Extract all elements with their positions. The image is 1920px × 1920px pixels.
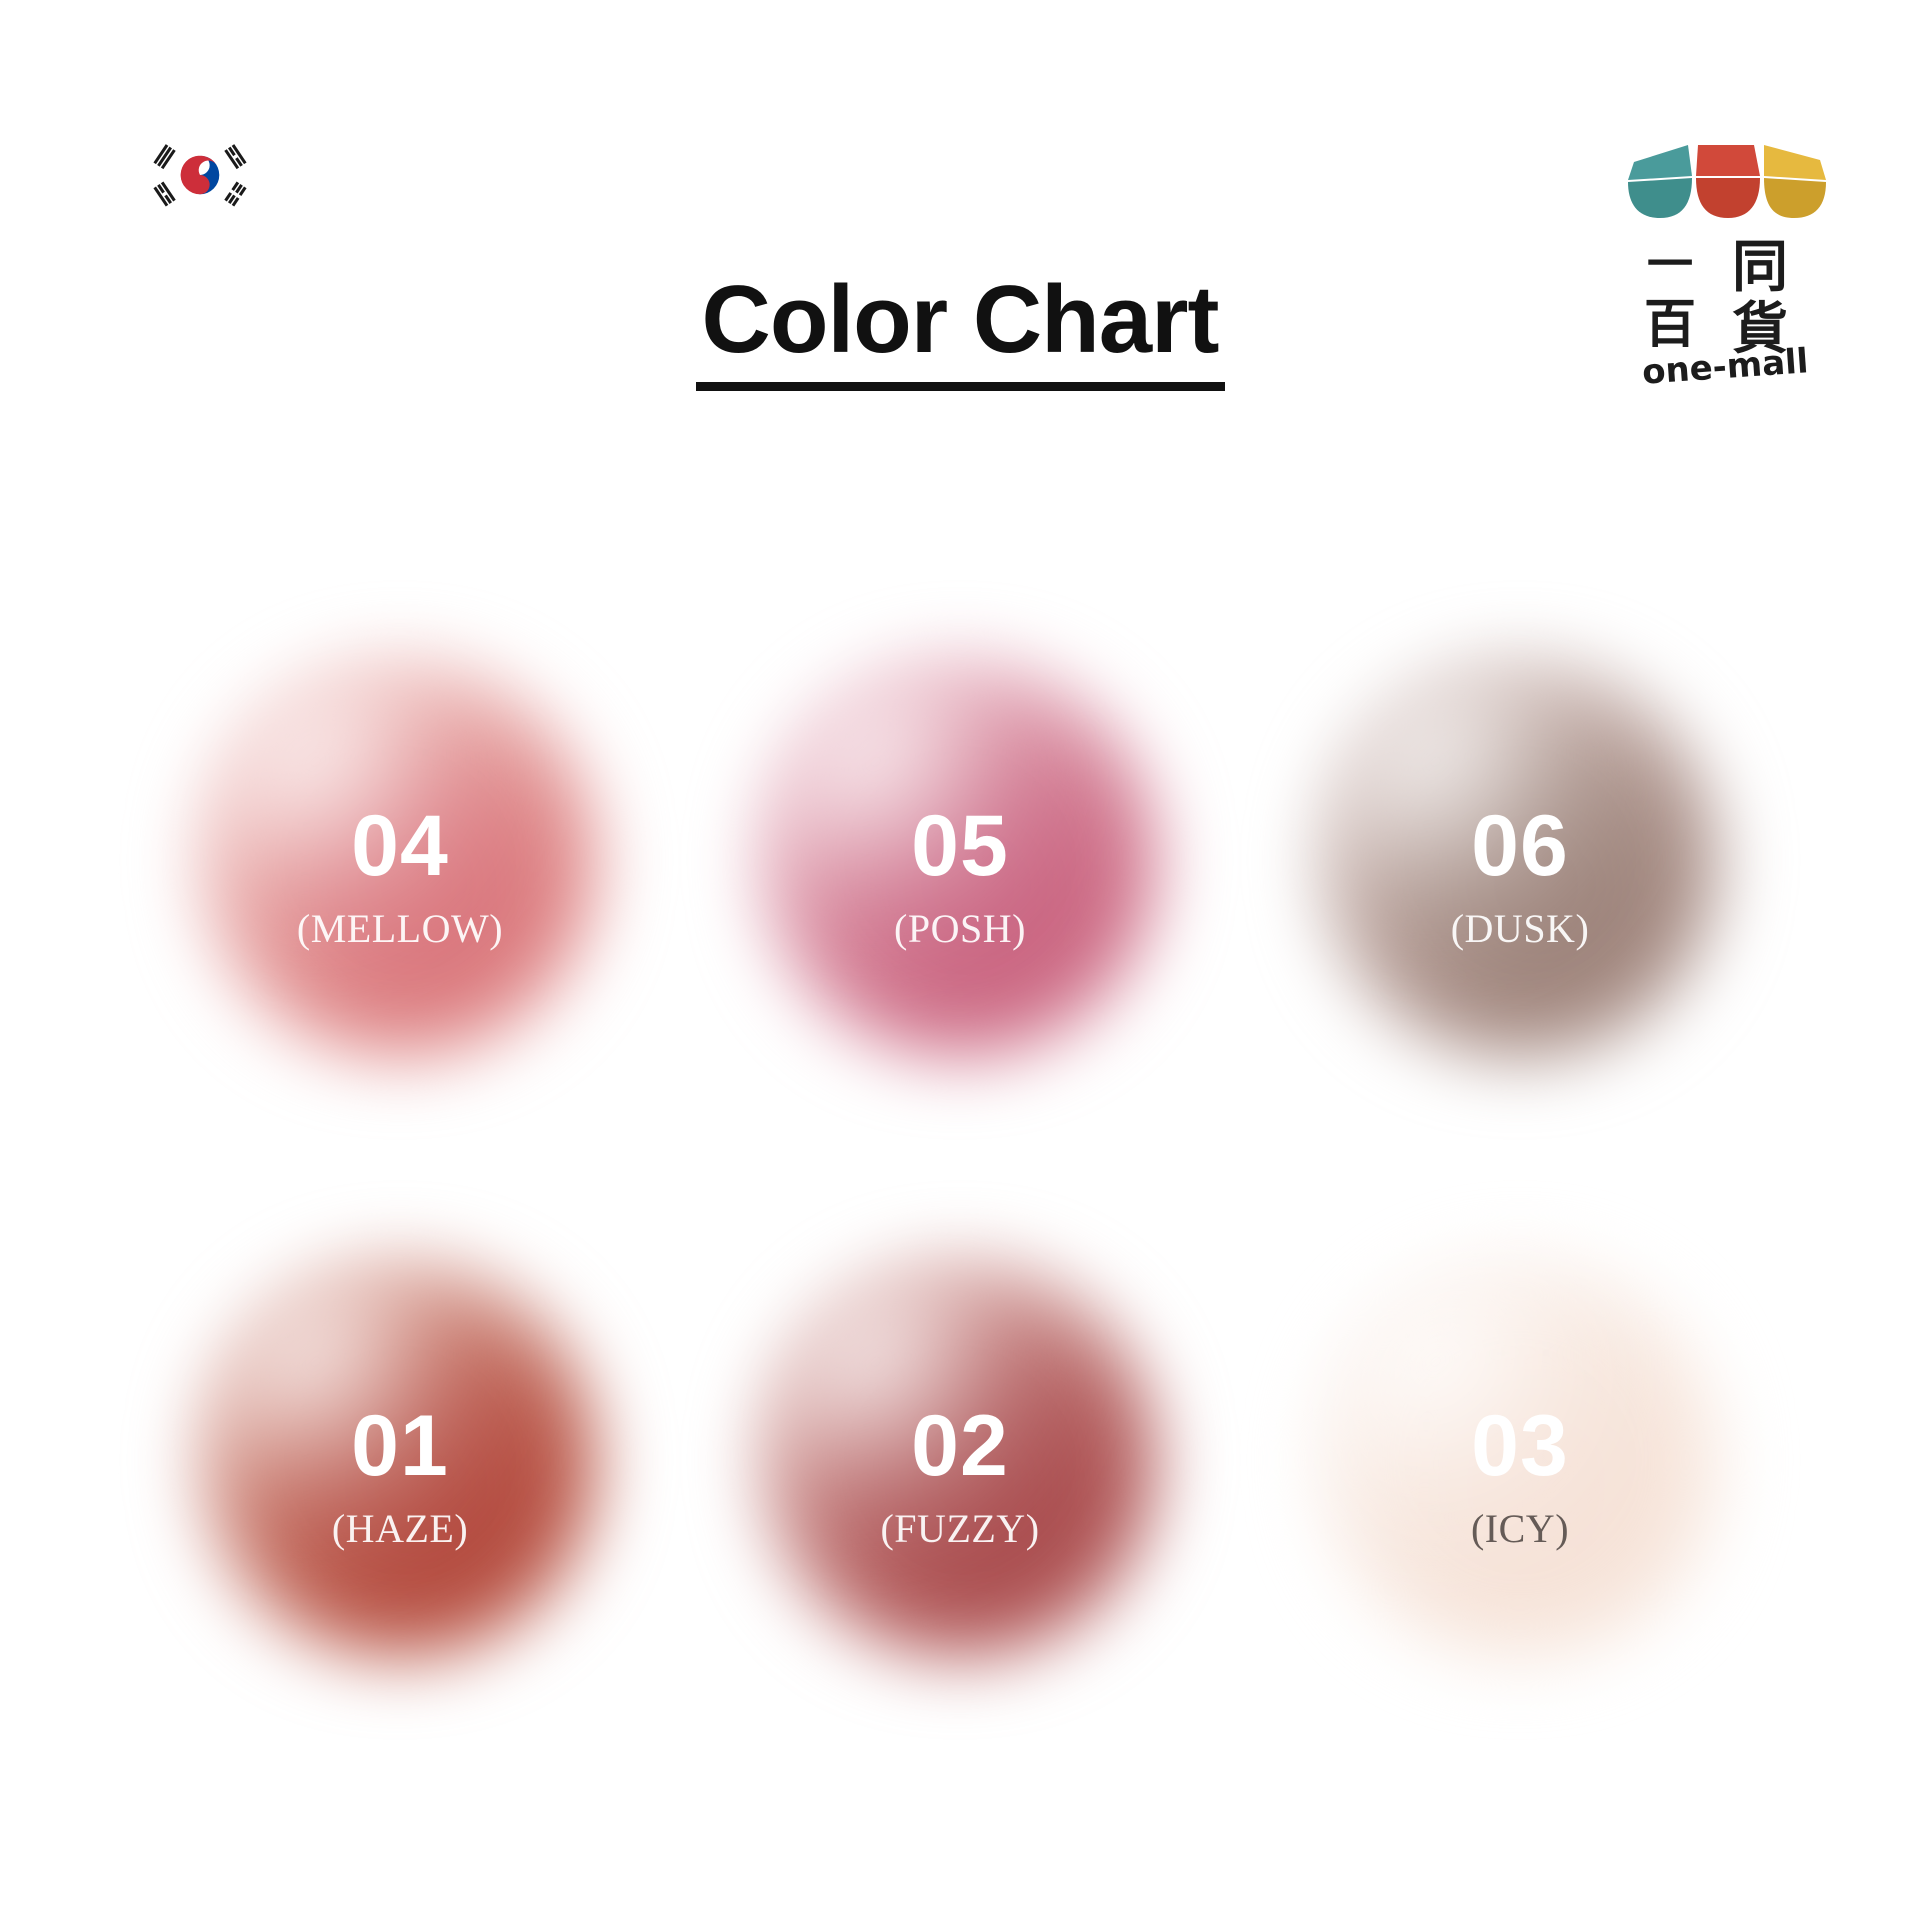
swatch-name: (FUZZY) xyxy=(880,1509,1039,1549)
swatch-labels: 04 (MELLOW) xyxy=(297,803,503,949)
swatch-labels: 06 (DUSK) xyxy=(1451,803,1590,949)
awning-icon xyxy=(1628,145,1826,218)
swatch-cell-04: 04 (MELLOW) xyxy=(120,560,680,1160)
color-swatch-01[interactable]: 01 (HAZE) xyxy=(165,1225,635,1695)
swatch-labels: 05 (POSH) xyxy=(894,803,1026,949)
swatch-number: 04 xyxy=(351,803,449,889)
swatch-name: (MELLOW) xyxy=(297,909,503,949)
page-title-text: Color Chart xyxy=(696,268,1225,391)
swatch-cell-06: 06 (DUSK) xyxy=(1240,560,1800,1160)
color-swatch-grid: 04 (MELLOW) 05 (POSH) 06 (DUSK) xyxy=(120,560,1800,1760)
korean-flag-icon xyxy=(138,130,262,220)
swatch-number: 06 xyxy=(1471,803,1569,889)
swatch-labels: 03 (ICY) xyxy=(1471,1403,1569,1549)
color-swatch-05[interactable]: 05 (POSH) xyxy=(725,625,1195,1095)
swatch-number: 02 xyxy=(911,1403,1009,1489)
swatch-cell-01: 01 (HAZE) xyxy=(120,1160,680,1760)
color-chart-page: 一 百 同 貨 one-mall Color Chart 04 (MELLOW) xyxy=(0,0,1920,1920)
swatch-number: 01 xyxy=(351,1403,449,1489)
swatch-number: 03 xyxy=(1471,1403,1569,1489)
swatch-name: (POSH) xyxy=(894,909,1026,949)
color-swatch-04[interactable]: 04 (MELLOW) xyxy=(165,625,635,1095)
swatch-cell-03: 03 (ICY) xyxy=(1240,1160,1800,1760)
swatch-cell-05: 05 (POSH) xyxy=(680,560,1240,1160)
page-title: Color Chart xyxy=(0,268,1920,391)
swatch-cell-02: 02 (FUZZY) xyxy=(680,1160,1240,1760)
color-swatch-02[interactable]: 02 (FUZZY) xyxy=(725,1225,1195,1695)
swatch-labels: 02 (FUZZY) xyxy=(880,1403,1039,1549)
color-swatch-03[interactable]: 03 (ICY) xyxy=(1285,1225,1755,1695)
swatch-name: (DUSK) xyxy=(1451,909,1590,949)
swatch-number: 05 xyxy=(911,803,1009,889)
swatch-labels: 01 (HAZE) xyxy=(332,1403,468,1549)
color-swatch-06[interactable]: 06 (DUSK) xyxy=(1285,625,1755,1095)
swatch-name: (HAZE) xyxy=(332,1509,468,1549)
swatch-name: (ICY) xyxy=(1471,1509,1569,1549)
